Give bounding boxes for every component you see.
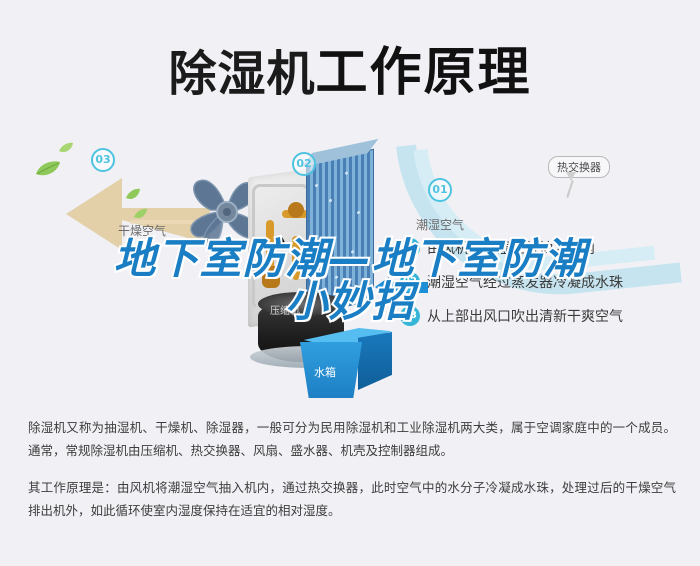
step-number-badge: 01: [400, 238, 420, 258]
diagram-badge-01: 01: [428, 178, 452, 202]
water-tank-side: [358, 332, 392, 390]
list-item: 03 从上部出风口吹出清新干爽空气: [400, 306, 690, 326]
list-item: 02 潮湿空气经过蒸发器冷凝成水珠: [400, 272, 690, 292]
evaporator-coil: [306, 149, 374, 315]
water-tank-label: 水箱: [314, 364, 336, 380]
step-number-badge: 03: [400, 306, 420, 326]
body-paragraph-1: 除湿机又称为抽湿机、干燥机、除湿器，一般可分为民用除湿机和工业除湿机两大类，属于…: [28, 416, 676, 462]
list-item: 01 由风机将潮湿空气抽入机内: [400, 238, 690, 258]
diagram-badge-03: 03: [91, 148, 115, 172]
copper-joint-icon: [288, 202, 304, 218]
leaf-icon: [125, 188, 141, 201]
water-tank: 水箱: [300, 328, 396, 406]
step-text: 从上部出风口吹出清新干爽空气: [427, 306, 623, 326]
heat-exchanger-callout: 热交换器: [548, 156, 610, 178]
leaf-icon: [34, 160, 62, 178]
flow-arrow-up-icon: ▲: [276, 234, 289, 247]
copper-valve-icon: [262, 266, 280, 288]
page-title: 除湿机工作原理: [0, 30, 700, 105]
step-number-badge: 02: [400, 272, 420, 292]
humid-air-label: 潮湿空气: [416, 216, 464, 233]
diagram-badge-02: 02: [292, 152, 316, 176]
leaf-icon: [58, 142, 74, 154]
title-part-2: 工作原理: [316, 43, 532, 103]
copper-tube-icon: [292, 236, 300, 280]
dry-air-label: 干燥空气: [118, 222, 166, 239]
step-text: 由风机将潮湿空气抽入机内: [427, 238, 595, 258]
body-paragraph-2: 其工作原理是：由风机将潮湿空气抽入机内，通过热交换器，此时空气中的水分子冷凝成水…: [28, 476, 676, 522]
process-step-list: 01 由风机将潮湿空气抽入机内 02 潮湿空气经过蒸发器冷凝成水珠 03 从上部…: [400, 238, 690, 340]
title-part-1: 除湿机: [168, 46, 315, 102]
step-text: 潮湿空气经过蒸发器冷凝成水珠: [427, 272, 623, 292]
infographic-page: 除湿机工作原理: [0, 0, 700, 566]
compressor-label: 压缩机: [270, 302, 300, 317]
article-body: 除湿机又称为抽湿机、干燥机、除湿器，一般可分为民用除湿机和工业除湿机两大类，属于…: [28, 416, 676, 537]
leaf-icon: [133, 208, 148, 220]
dehumidifier-unit: 热交换器 ▲ ▶ ▼: [248, 150, 388, 380]
